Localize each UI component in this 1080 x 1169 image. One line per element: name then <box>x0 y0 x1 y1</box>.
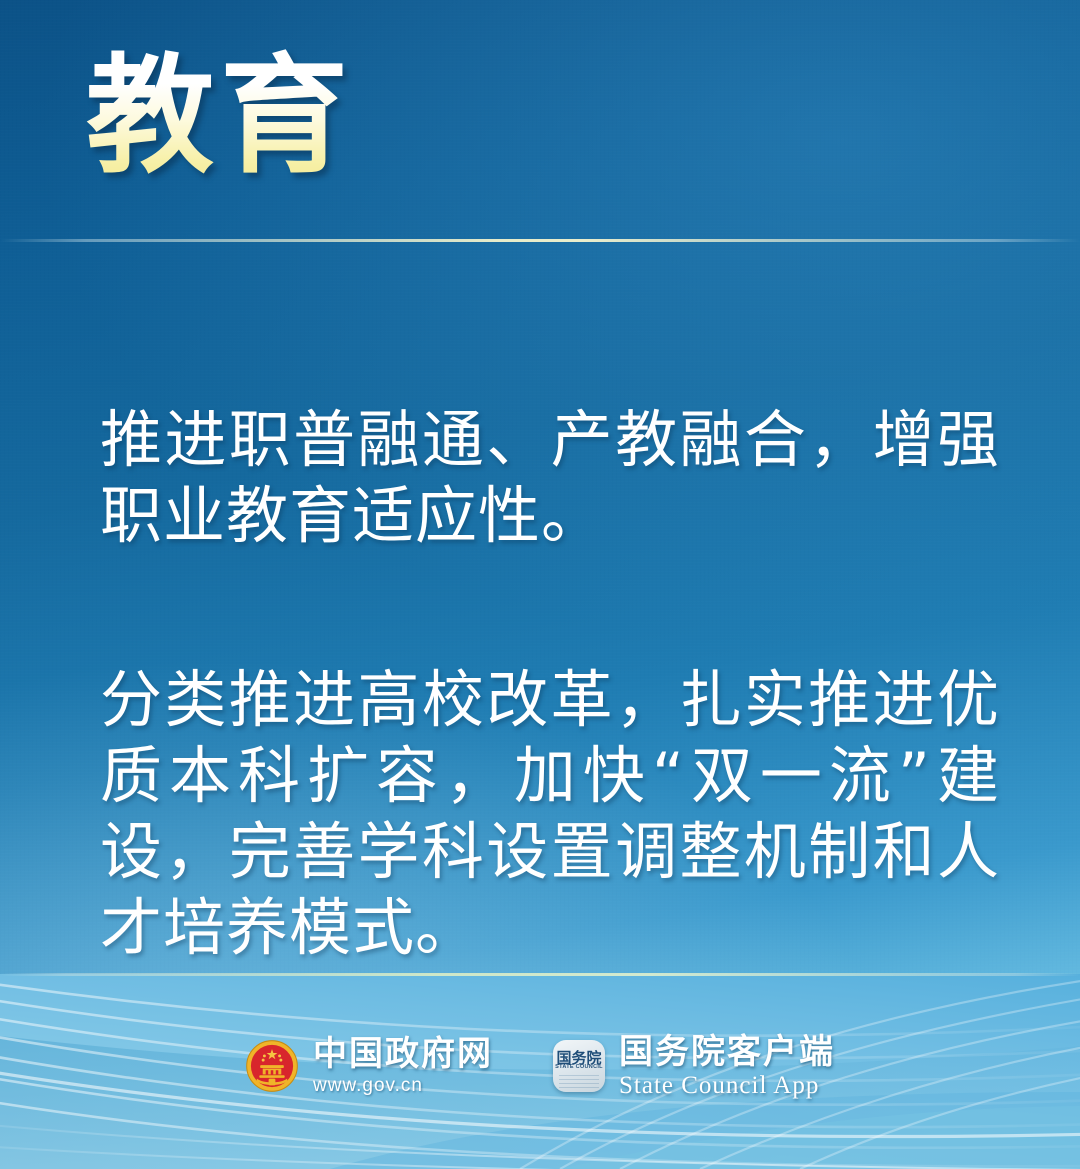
gov-brand-name: 中国政府网 <box>313 1034 493 1074</box>
gov-brand-text: 中国政府网 www.gov.cn <box>313 1034 493 1098</box>
app-brand-name-en: State Council App <box>619 1072 835 1100</box>
app-brand[interactable]: 国务院 STATE COUNCIL 国务院客户端 State Council A… <box>553 1032 835 1100</box>
paragraph-2: 分类推进高校改革，扎实推进优质本科扩容，加快“双一流”建设，完善学科设置调整机制… <box>100 662 1000 966</box>
state-council-app-icon: 国务院 STATE COUNCIL <box>553 1040 605 1092</box>
body-copy: 推进职普融通、产教融合，增强职业教育适应性。 分类推进高校改革，扎实推进优质本科… <box>100 340 1000 1028</box>
paragraph-1: 推进职普融通、产教融合，增强职业教育适应性。 <box>100 402 1000 554</box>
national-emblem-icon <box>245 1039 299 1093</box>
poster-canvas: 教育 推进职普融通、产教融合，增强职业教育适应性。 分类推进高校改革，扎实推进优… <box>0 0 1080 1169</box>
page-title: 教育 <box>86 48 354 186</box>
app-icon-label-en: STATE COUNCIL <box>553 1064 605 1070</box>
app-icon-lines <box>559 1072 599 1088</box>
app-brand-name: 国务院客户端 <box>619 1032 835 1072</box>
gov-brand[interactable]: 中国政府网 www.gov.cn <box>245 1034 493 1098</box>
footer: 中国政府网 www.gov.cn 国务院 STATE COUNCIL 国务院客户… <box>0 1032 1080 1100</box>
gov-brand-url: www.gov.cn <box>313 1074 493 1098</box>
divider-top <box>0 239 1080 242</box>
app-brand-text: 国务院客户端 State Council App <box>619 1032 835 1100</box>
